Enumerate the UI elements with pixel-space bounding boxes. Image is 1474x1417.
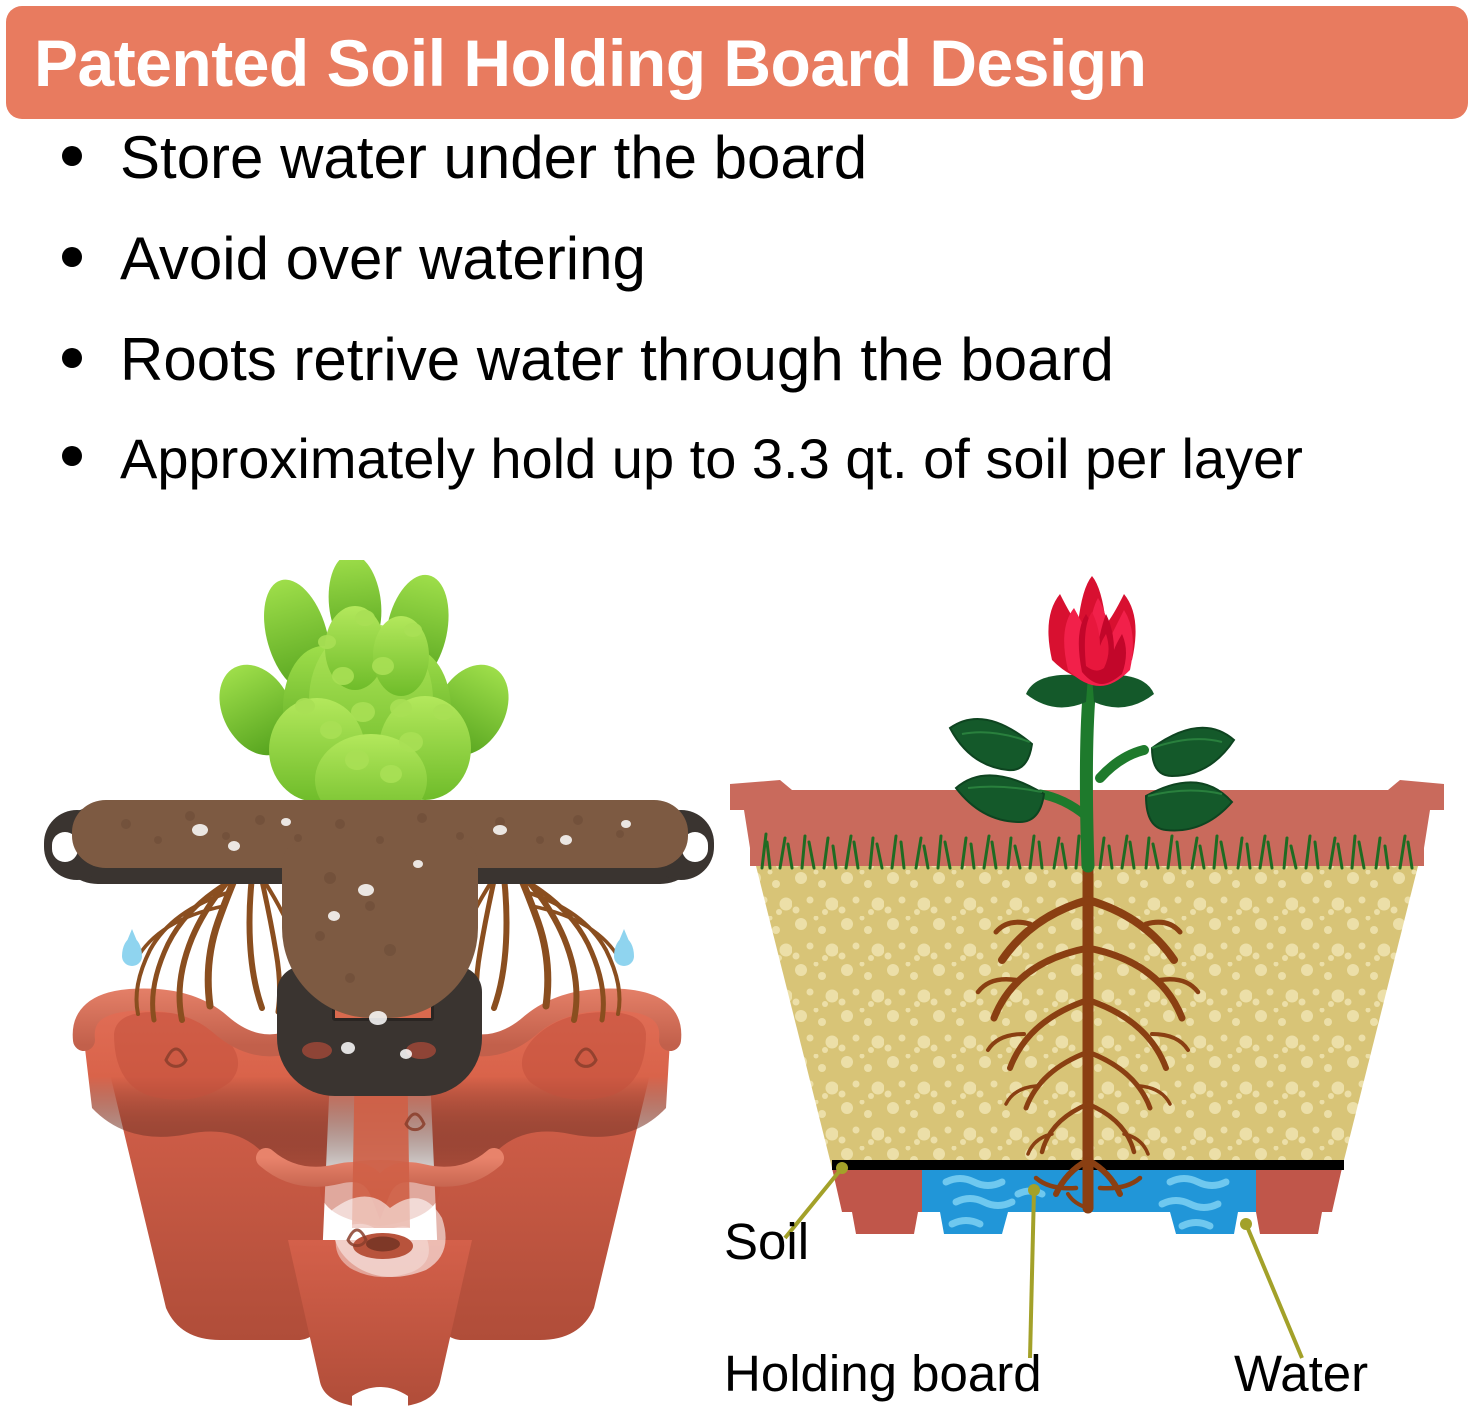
cross-section-diagram: Soil Holding board Water — [700, 548, 1474, 1417]
list-item: Roots retrive water through the board — [0, 330, 1474, 431]
bullet-dot-icon — [62, 348, 82, 368]
page-title: Patented Soil Holding Board Design — [6, 30, 1146, 96]
list-item-label: Roots retrive water through the board — [120, 330, 1114, 390]
cross-section-illustration — [700, 548, 1474, 1417]
list-item-label: Approximately hold up to 3.3 qt. of soil… — [120, 431, 1303, 487]
label-soil: Soil — [724, 1216, 809, 1267]
bullet-dot-icon — [62, 446, 82, 466]
figure-row: Soil Holding board Water — [0, 548, 1474, 1417]
label-holding-board: Holding board — [724, 1348, 1042, 1399]
list-item: Approximately hold up to 3.3 qt. of soil… — [0, 431, 1474, 532]
list-item-label: Avoid over watering — [120, 229, 646, 289]
feature-bullet-list: Store water under the board Avoid over w… — [0, 128, 1474, 532]
list-item: Avoid over watering — [0, 229, 1474, 330]
label-water: Water — [1234, 1348, 1368, 1399]
soil-texture — [30, 548, 730, 1417]
header-banner: Patented Soil Holding Board Design — [6, 6, 1468, 119]
list-item: Store water under the board — [0, 128, 1474, 229]
product-photo-holding-board — [30, 548, 730, 1417]
bullet-dot-icon — [62, 146, 82, 166]
list-item-label: Store water under the board — [120, 128, 867, 188]
bullet-dot-icon — [62, 247, 82, 267]
